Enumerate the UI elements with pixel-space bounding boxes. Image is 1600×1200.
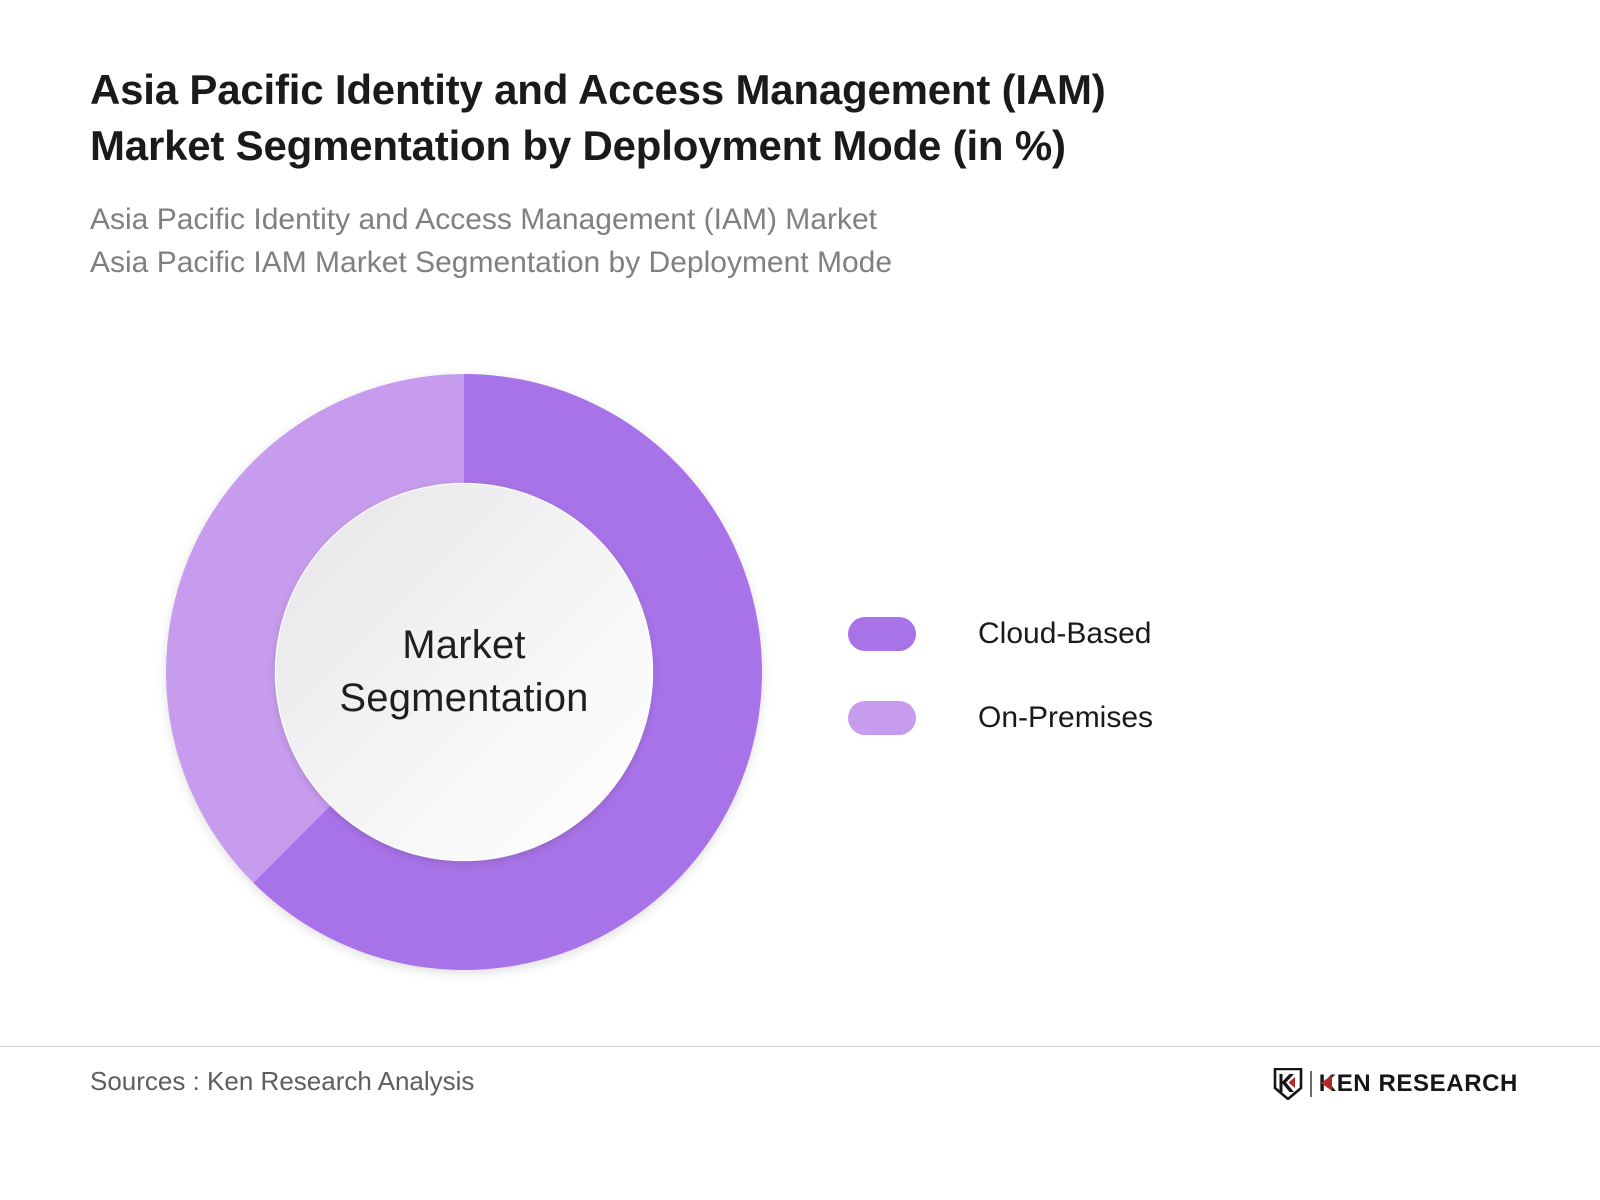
legend-swatch-icon-on-premises — [848, 701, 916, 735]
brand-name: KEN RESEARCH — [1319, 1070, 1518, 1098]
brand-logo: KEN RESEARCH — [1273, 1067, 1518, 1101]
chart-plot-area: Market Segmentation Cloud-Based On-Premi… — [0, 340, 1600, 1020]
k-shield-icon — [1273, 1068, 1303, 1100]
brand-text-label: KEN RESEARCH — [1319, 1070, 1518, 1097]
legend-swatch-icon-cloud-based — [848, 617, 916, 651]
page-title: Asia Pacific Identity and Access Managem… — [90, 62, 1370, 175]
brand-divider — [1310, 1071, 1312, 1097]
chart-header: Asia Pacific Identity and Access Managem… — [90, 62, 1370, 285]
chart-slide: Asia Pacific Identity and Access Managem… — [0, 0, 1600, 1200]
source-note: Sources : Ken Research Analysis — [90, 1066, 474, 1097]
chart-subtitle: Asia Pacific Identity and Access Managem… — [90, 198, 1370, 285]
chart-legend: Cloud-Based On-Premises — [848, 592, 1328, 760]
legend-label-on-premises: On-Premises — [978, 701, 1153, 735]
brand-accent-icon — [1321, 1075, 1332, 1091]
legend-item-cloud-based[interactable]: Cloud-Based — [848, 592, 1328, 676]
donut-center-label: Market Segmentation — [275, 483, 653, 861]
legend-label-cloud-based: Cloud-Based — [978, 617, 1151, 651]
legend-item-on-premises[interactable]: On-Premises — [848, 676, 1328, 760]
donut-center-line-2: Segmentation — [339, 672, 588, 725]
footer-divider — [0, 1046, 1600, 1047]
donut-center-line-1: Market — [402, 619, 525, 672]
donut-chart: Market Segmentation — [166, 374, 762, 970]
